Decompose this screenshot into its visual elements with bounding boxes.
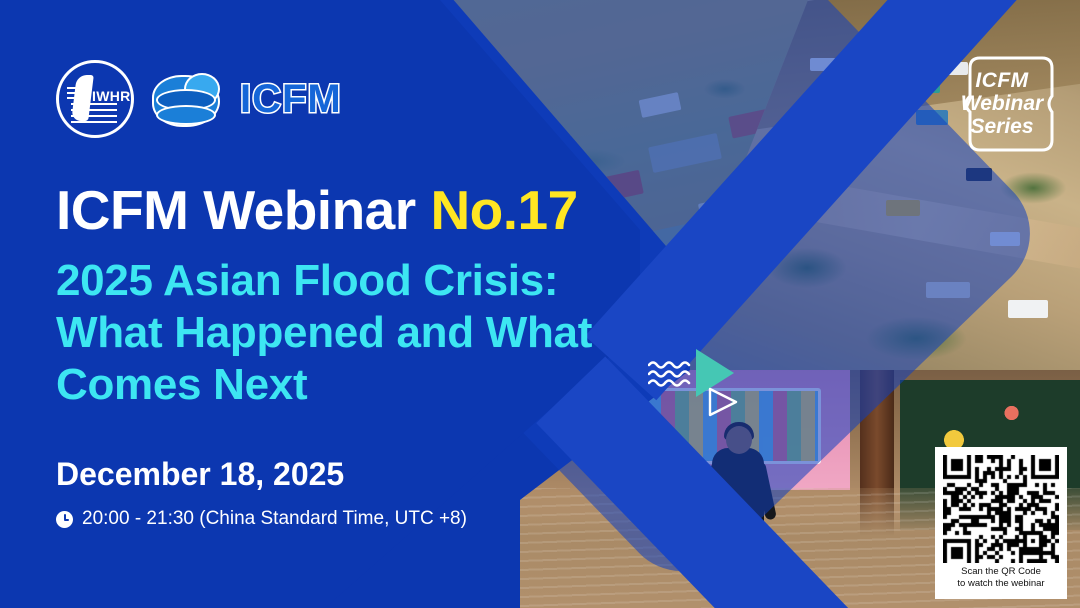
submerged-road [729, 167, 1080, 272]
webinar-subtitle: 2025 Asian Flood Crisis: What Happened a… [56, 255, 676, 411]
play-triangle-outline-icon [706, 385, 740, 419]
clock-icon [56, 511, 73, 528]
qr-caption-line-1: Scan the QR Code [943, 566, 1059, 578]
event-date: December 18, 2025 [56, 456, 344, 493]
webinar-series-badge: ICFM Webinar Series [946, 52, 1058, 156]
qr-code-icon[interactable] [943, 455, 1059, 563]
iwhr-water-lines [71, 103, 117, 123]
wave-play-motif [648, 345, 758, 417]
wave-logo-icon [150, 69, 224, 129]
webinar-poster: IWHR ICFM ICFM Webinar No.17 2025 Asian … [0, 0, 1080, 608]
woman-boot-left [722, 528, 737, 576]
iwhr-label: IWHR [92, 88, 131, 104]
event-time: 20:00 - 21:30 (China Standard Time, UTC … [82, 508, 467, 530]
qr-caption-line-2: to watch the webinar [943, 578, 1059, 590]
headline-number: No.17 [430, 179, 577, 241]
woman-torso [712, 448, 764, 534]
iwhr-logo: IWHR [56, 60, 134, 138]
woman-head [726, 426, 752, 454]
headline-prefix: ICFM Webinar [56, 179, 430, 241]
icfm-wordmark: ICFM [240, 77, 342, 122]
logo-row: IWHR ICFM [56, 60, 342, 138]
qr-caption: Scan the QR Code to watch the webinar [943, 566, 1059, 589]
badge-line-3: Series [970, 116, 1033, 138]
event-time-row: 20:00 - 21:30 (China Standard Time, UTC … [56, 508, 467, 530]
badge-line-1: ICFM [975, 70, 1028, 92]
qr-code-card[interactable]: Scan the QR Code to watch the webinar [935, 447, 1067, 599]
page-title: ICFM Webinar No.17 [56, 178, 578, 242]
badge-line-2: Webinar [961, 93, 1043, 115]
badge-text: ICFM Webinar Series [946, 52, 1058, 156]
woman-boot-right [744, 528, 759, 576]
